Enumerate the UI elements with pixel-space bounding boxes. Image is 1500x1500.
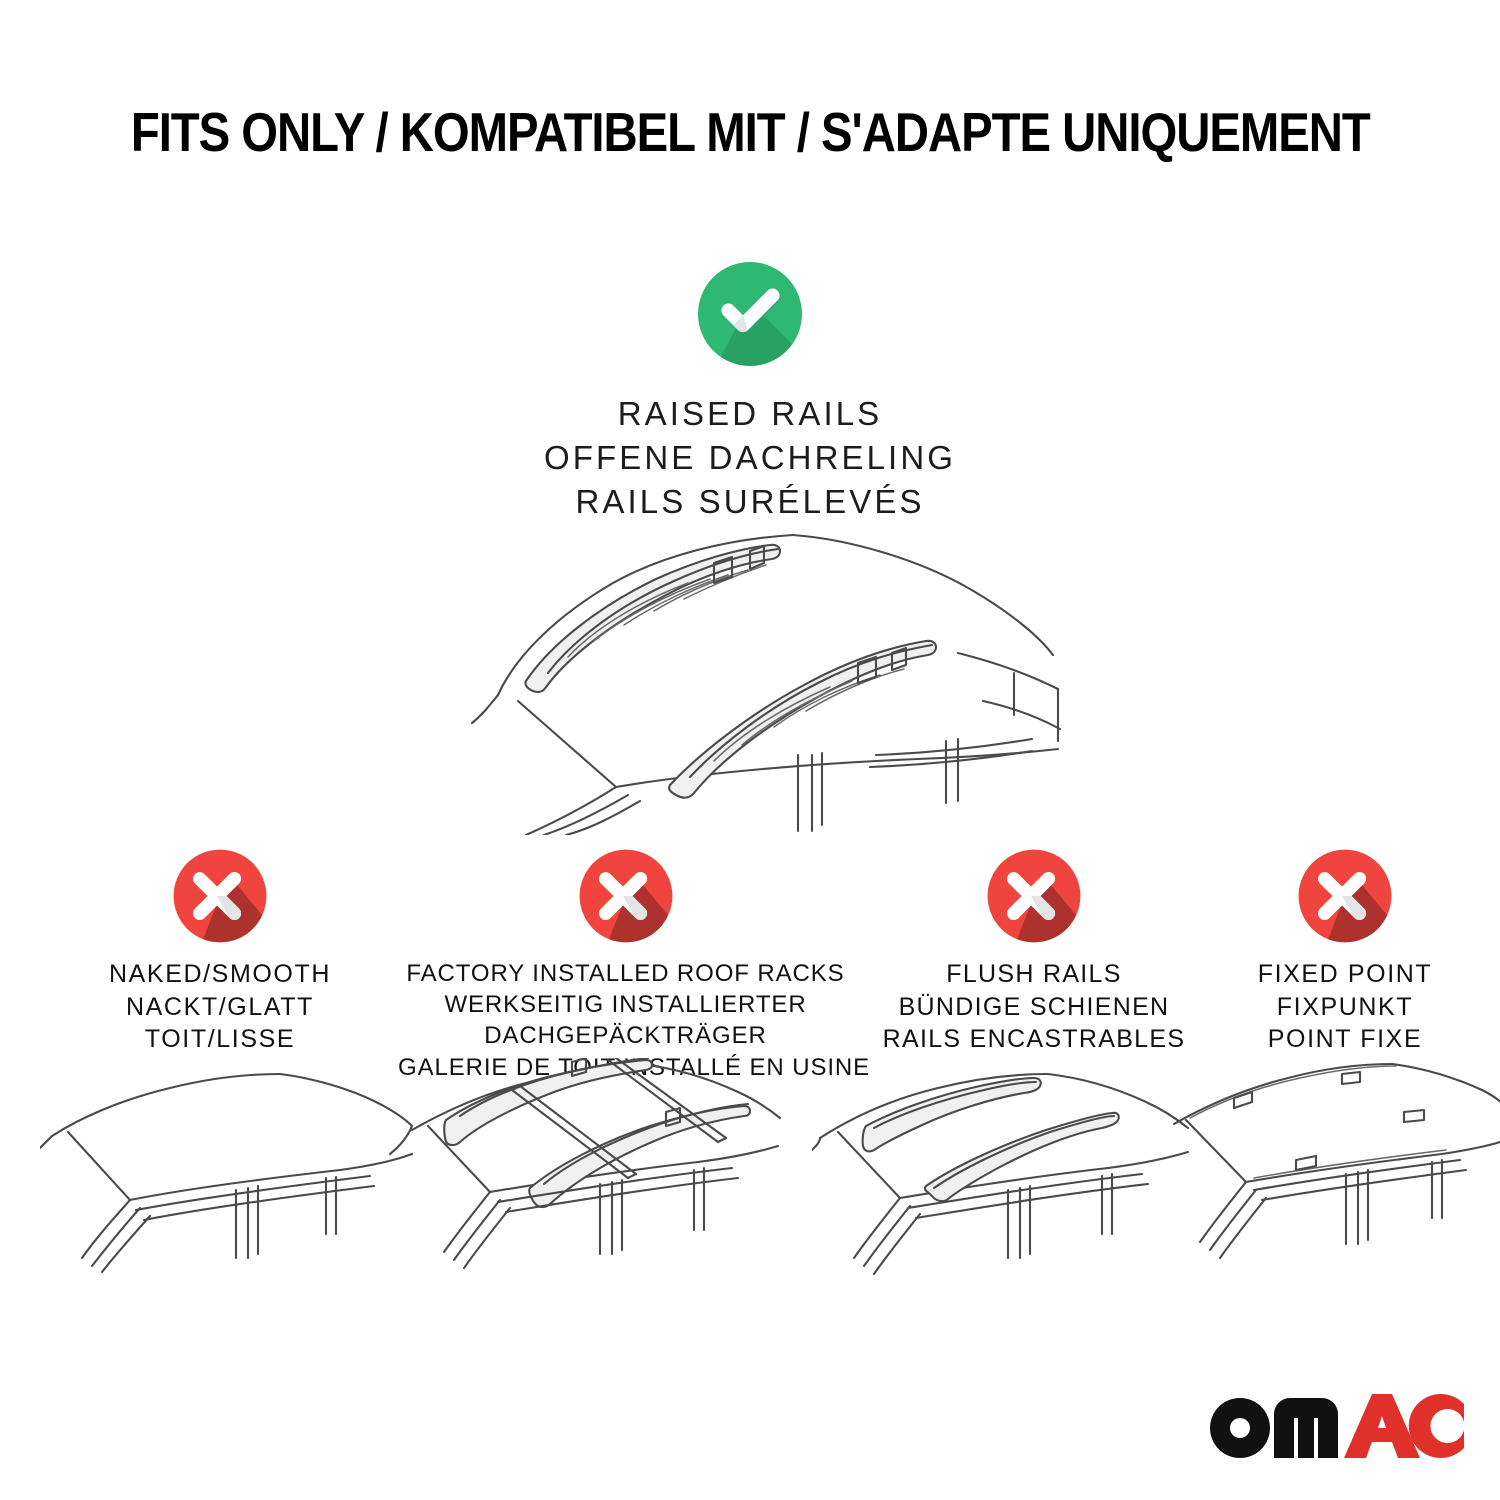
cross-badge-wrap-2 — [858, 846, 1210, 958]
incompatible-column-factory-racks: FACTORY INSTALLED ROOF RACKS WERKSEITIG … — [398, 846, 853, 1083]
incompatible-column-naked-smooth: NAKED/SMOOTH NACKT/GLATT TOIT/LISSE — [40, 846, 400, 1056]
cross-badge-wrap-3 — [1200, 846, 1490, 958]
cross-circle-icon — [576, 846, 676, 946]
incompatible-label-en-0: NAKED/SMOOTH — [40, 958, 400, 991]
cross-badge-wrap-1 — [398, 846, 853, 958]
compatible-label-de: OFFENE DACHRELING — [0, 436, 1500, 480]
compatible-section: RAISED RAILS OFFENE DACHRELING RAILS SUR… — [0, 258, 1500, 525]
incompatible-label-en-2: FLUSH RAILS — [858, 958, 1210, 991]
cross-circle-icon — [1295, 846, 1395, 946]
page-title: FITS ONLY / KOMPATIBEL MIT / S'ADAPTE UN… — [131, 104, 1370, 162]
compatible-label-en: RAISED RAILS — [0, 392, 1500, 436]
incompatible-label-en-3: FIXED POINT — [1200, 958, 1490, 991]
cross-circle-icon — [170, 846, 270, 946]
incompatible-column-flush-rails: FLUSH RAILS BÜNDIGE SCHIENEN RAILS ENCAS… — [858, 846, 1210, 1056]
incompatible-label-de2-1: DACHGEPÄCKTRÄGER — [398, 1020, 853, 1051]
incompatible-section: NAKED/SMOOTH NACKT/GLATT TOIT/LISSE FACT… — [0, 846, 1500, 1056]
incompatible-label-fr-0: TOIT/LISSE — [40, 1023, 400, 1056]
check-circle-icon — [694, 258, 806, 370]
omac-logo — [1206, 1390, 1464, 1462]
incompatible-label-de1-1: WERKSEITIG INSTALLIERTER — [398, 989, 853, 1020]
incompatible-label-fr-3: POINT FIXE — [1200, 1023, 1490, 1056]
incompatible-label-de-3: FIXPUNKT — [1200, 991, 1490, 1024]
cross-circle-icon — [984, 846, 1084, 946]
incompatible-label-de-0: NACKT/GLATT — [40, 991, 400, 1024]
car-roof-flush-rails-illustration — [812, 1058, 1207, 1298]
car-roof-naked-smooth-illustration — [40, 1058, 415, 1298]
incompatible-label-en-1: FACTORY INSTALLED ROOF RACKS — [398, 958, 853, 989]
incompatible-label-de-2: BÜNDIGE SCHIENEN — [858, 991, 1210, 1024]
title-bar: FITS ONLY / KOMPATIBEL MIT / S'ADAPTE UN… — [0, 104, 1500, 162]
incompatible-label-fr-2: RAILS ENCASTRABLES — [858, 1023, 1210, 1056]
incompatible-column-fixed-point: FIXED POINT FIXPUNKT POINT FIXE — [1200, 846, 1490, 1056]
car-roof-raised-rails-illustration — [398, 505, 1108, 835]
omac-logo-om — [1210, 1398, 1338, 1458]
omac-logo-ac — [1344, 1394, 1464, 1458]
car-roof-factory-racks-illustration — [402, 1058, 797, 1298]
cross-badge-wrap-0 — [40, 846, 400, 958]
car-roof-fixed-point-illustration — [1168, 1058, 1500, 1298]
